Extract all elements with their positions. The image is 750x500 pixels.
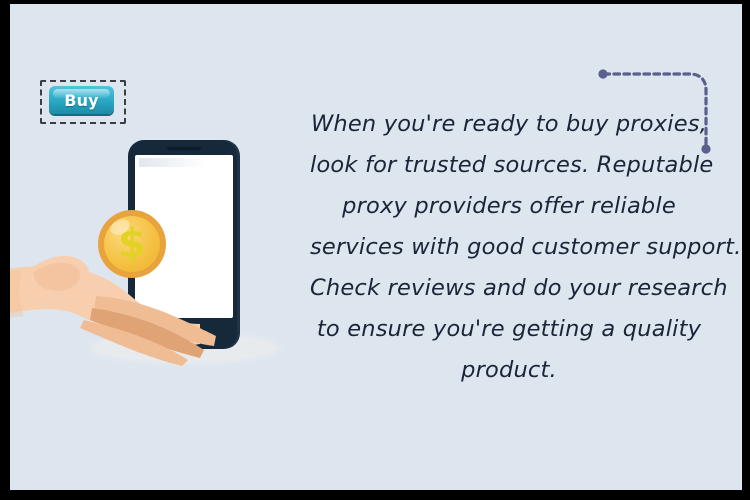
image-frame: Buy $ bbox=[0, 0, 750, 500]
dollar-sign-icon: $ bbox=[104, 216, 160, 272]
quote-line: Check reviews and do your research bbox=[310, 268, 708, 309]
buy-button-label: Buy bbox=[49, 86, 114, 114]
quote-line: to ensure you're getting a quality bbox=[310, 309, 708, 350]
quote-line: look for trusted sources. Reputable bbox=[310, 145, 708, 186]
phone-purchase-illustration: Buy $ bbox=[10, 4, 310, 490]
phone-speaker-icon bbox=[167, 147, 201, 150]
quote-line: When you're ready to buy proxies, bbox=[310, 104, 708, 145]
dashed-corner-start-dot bbox=[598, 69, 607, 78]
quote-text-block: When you're ready to buy proxies, look f… bbox=[310, 104, 708, 391]
buy-button[interactable]: Buy bbox=[49, 86, 114, 114]
quote-line: product. bbox=[310, 350, 708, 391]
poster-canvas: Buy $ bbox=[10, 4, 742, 490]
screen-glare bbox=[139, 158, 227, 167]
quote-line: services with good customer support. bbox=[310, 227, 708, 268]
quote-line: proxy providers offer reliable bbox=[310, 186, 708, 227]
